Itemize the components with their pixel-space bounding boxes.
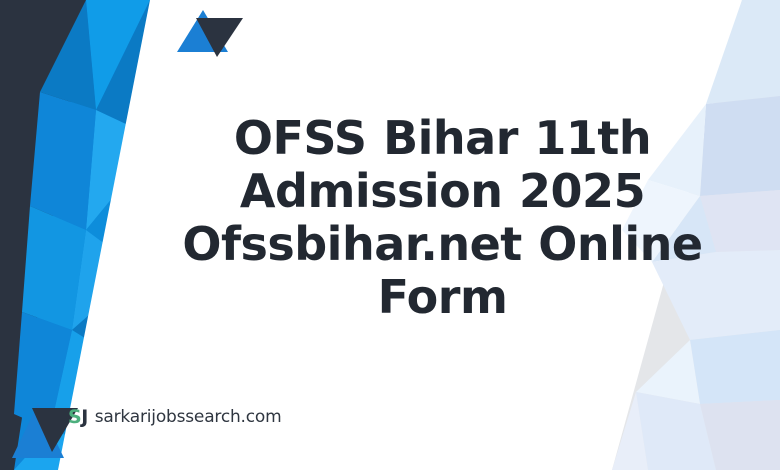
headline-block: OFSS Bihar 11th Admission 2025 Ofssbihar… — [150, 112, 735, 324]
brand-domain-label: sarkarijobssearch.com — [95, 408, 282, 427]
brand-lockup[interactable]: SJ sarkarijobssearch.com — [68, 408, 281, 427]
monogram-letter-j: J — [81, 406, 88, 428]
blue-triangle-top — [177, 10, 228, 52]
blue-triangle-bottom — [12, 404, 64, 458]
banner-canvas: OFSS Bihar 11th Admission 2025 Ofssbihar… — [0, 0, 780, 470]
monogram-letter-s: S — [68, 406, 81, 428]
page-title: OFSS Bihar 11th Admission 2025 Ofssbihar… — [150, 112, 735, 324]
sj-monogram-icon: SJ — [68, 408, 88, 427]
navy-triangle-top — [196, 18, 243, 57]
